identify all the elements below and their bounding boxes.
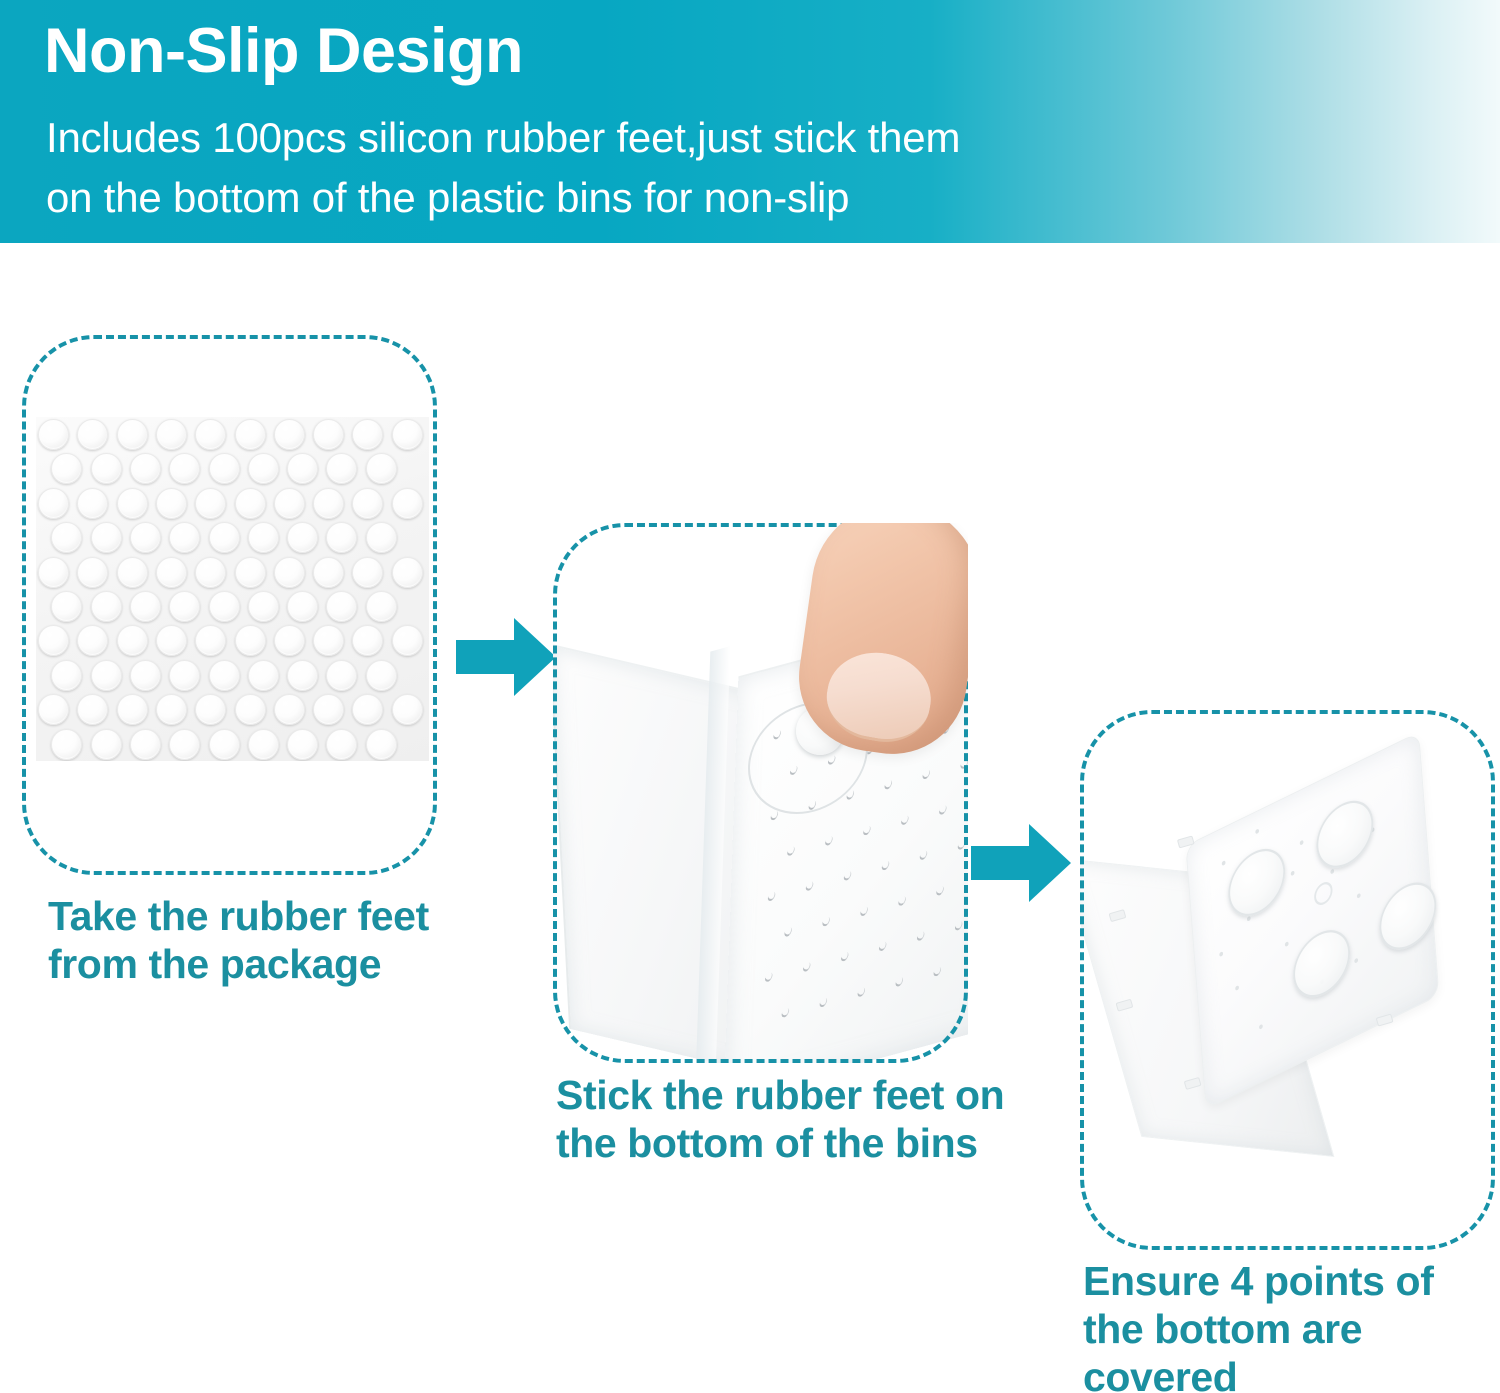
rubber-foot-dot — [51, 591, 82, 622]
rubber-feet-sheet-image — [36, 417, 429, 761]
rubber-foot-dot — [235, 488, 266, 519]
step-1-caption: Take the rubber feet from the package — [48, 893, 448, 989]
rubber-foot-dot — [130, 453, 161, 484]
rubber-foot-dot — [313, 488, 344, 519]
rubber-foot-dot — [195, 488, 226, 519]
rubber-foot-dot — [169, 591, 200, 622]
rubber-foot-dot — [195, 694, 226, 725]
rubber-foot-dot — [209, 660, 240, 691]
subtitle-line-2: on the bottom of the plastic bins for no… — [46, 168, 1406, 228]
rubber-foot-dot — [38, 557, 69, 588]
rubber-foot-dot — [274, 557, 305, 588]
header-banner: Non-Slip Design Includes 100pcs silicon … — [0, 0, 1500, 243]
rubber-foot-dot — [366, 591, 397, 622]
rubber-foot-dot — [287, 453, 318, 484]
rubber-foot-dot — [169, 522, 200, 553]
rubber-foot-dot — [274, 488, 305, 519]
rubber-foot-dot — [156, 694, 187, 725]
rubber-foot-dot — [392, 488, 423, 519]
rubber-foot-dot — [248, 660, 279, 691]
rubber-foot-dot — [235, 625, 266, 656]
rubber-foot-dot — [156, 488, 187, 519]
rubber-foot-dot — [195, 625, 226, 656]
rubber-foot-dot — [287, 729, 318, 760]
rubber-foot-dot — [248, 453, 279, 484]
rubber-foot-dot — [117, 625, 148, 656]
rubber-foot-dot — [195, 419, 226, 450]
rubber-foot-dot — [235, 694, 266, 725]
arrow-right-icon-2 — [971, 822, 1071, 904]
rubber-foot-dot — [195, 557, 226, 588]
infographic-page: Non-Slip Design Includes 100pcs silicon … — [0, 0, 1500, 1393]
rubber-foot-dot — [91, 453, 122, 484]
rubber-foot-dot — [274, 419, 305, 450]
rubber-foot-dot — [287, 591, 318, 622]
rubber-foot-dot — [392, 694, 423, 725]
rubber-foot-dot — [169, 729, 200, 760]
page-subtitle: Includes 100pcs silicon rubber feet,just… — [46, 108, 1406, 227]
rubber-foot-dot — [313, 419, 344, 450]
arrow-right-icon-1 — [456, 616, 556, 698]
rubber-foot-dot — [51, 660, 82, 691]
rubber-foot-dot — [392, 625, 423, 656]
rubber-foot-dot — [235, 557, 266, 588]
rubber-foot-dot — [51, 453, 82, 484]
rubber-foot-dot — [51, 522, 82, 553]
rubber-foot-dot — [326, 522, 357, 553]
rubber-foot-dot — [77, 488, 108, 519]
rubber-foot-dot — [313, 625, 344, 656]
rubber-foot-dot — [130, 522, 161, 553]
rubber-foot-dot — [77, 419, 108, 450]
rubber-foot-dot — [117, 419, 148, 450]
rubber-foot-dot — [130, 660, 161, 691]
rubber-foot-dot — [91, 591, 122, 622]
rubber-foot-dot — [38, 419, 69, 450]
rubber-foot-dot — [77, 694, 108, 725]
rubber-foot-dot — [313, 694, 344, 725]
step-2-caption: Stick the rubber feet on the bottom of t… — [556, 1072, 1006, 1168]
rubber-foot-dot — [156, 625, 187, 656]
rubber-foot-dot — [38, 694, 69, 725]
rubber-foot-dot — [287, 660, 318, 691]
rubber-foot-dot — [352, 419, 383, 450]
rubber-foot-dot — [169, 453, 200, 484]
rubber-foot-dot — [77, 625, 108, 656]
arrow-right-glyph-1 — [456, 616, 556, 698]
page-title: Non-Slip Design — [44, 18, 523, 84]
rubber-foot-dot — [156, 419, 187, 450]
rubber-foot-dot — [366, 729, 397, 760]
arrow-right-glyph-2 — [971, 822, 1071, 904]
rubber-foot-dot — [91, 522, 122, 553]
rubber-foot-dot — [91, 660, 122, 691]
step-3-caption: Ensure 4 points of the bottom are covere… — [1083, 1258, 1500, 1393]
rubber-foot-dot — [326, 453, 357, 484]
rubber-foot-dot — [352, 694, 383, 725]
rubber-foot-dot — [274, 625, 305, 656]
rubber-foot-dot — [248, 522, 279, 553]
rubber-foot-dot — [248, 729, 279, 760]
rubber-foot-dot — [156, 557, 187, 588]
step-3-panel — [1080, 710, 1495, 1250]
rubber-foot-dot — [366, 522, 397, 553]
rubber-foot-dot — [326, 660, 357, 691]
rubber-foot-dot — [366, 453, 397, 484]
rubber-foot-dot — [366, 660, 397, 691]
rubber-foot-dot — [130, 591, 161, 622]
rubber-foot-dot — [287, 522, 318, 553]
rubber-foot-dot — [117, 488, 148, 519]
rubber-foot-dot — [130, 729, 161, 760]
rubber-foot-dot — [392, 419, 423, 450]
rubber-foot-dot — [274, 694, 305, 725]
rubber-foot-dot — [209, 453, 240, 484]
rubber-foot-dot — [326, 591, 357, 622]
rubber-foot-dot — [169, 660, 200, 691]
rubber-foot-dot — [91, 729, 122, 760]
rubber-foot-dot — [352, 488, 383, 519]
rubber-foot-dot — [77, 557, 108, 588]
rubber-foot-dot — [392, 557, 423, 588]
rubber-foot-dot — [248, 591, 279, 622]
rubber-foot-dot — [352, 625, 383, 656]
rubber-foot-dot — [209, 729, 240, 760]
rubber-foot-dot — [235, 419, 266, 450]
rubber-foot-dot — [117, 694, 148, 725]
rubber-foot-dot — [326, 729, 357, 760]
rubber-foot-dot — [38, 625, 69, 656]
subtitle-line-1: Includes 100pcs silicon rubber feet,just… — [46, 108, 1406, 168]
rubber-foot-dot — [117, 557, 148, 588]
rubber-foot-dot — [313, 557, 344, 588]
rubber-foot-dot — [38, 488, 69, 519]
rubber-foot-dot — [51, 729, 82, 760]
rubber-foot-dot — [209, 591, 240, 622]
rubber-foot-dot — [352, 557, 383, 588]
rubber-foot-dot — [209, 522, 240, 553]
